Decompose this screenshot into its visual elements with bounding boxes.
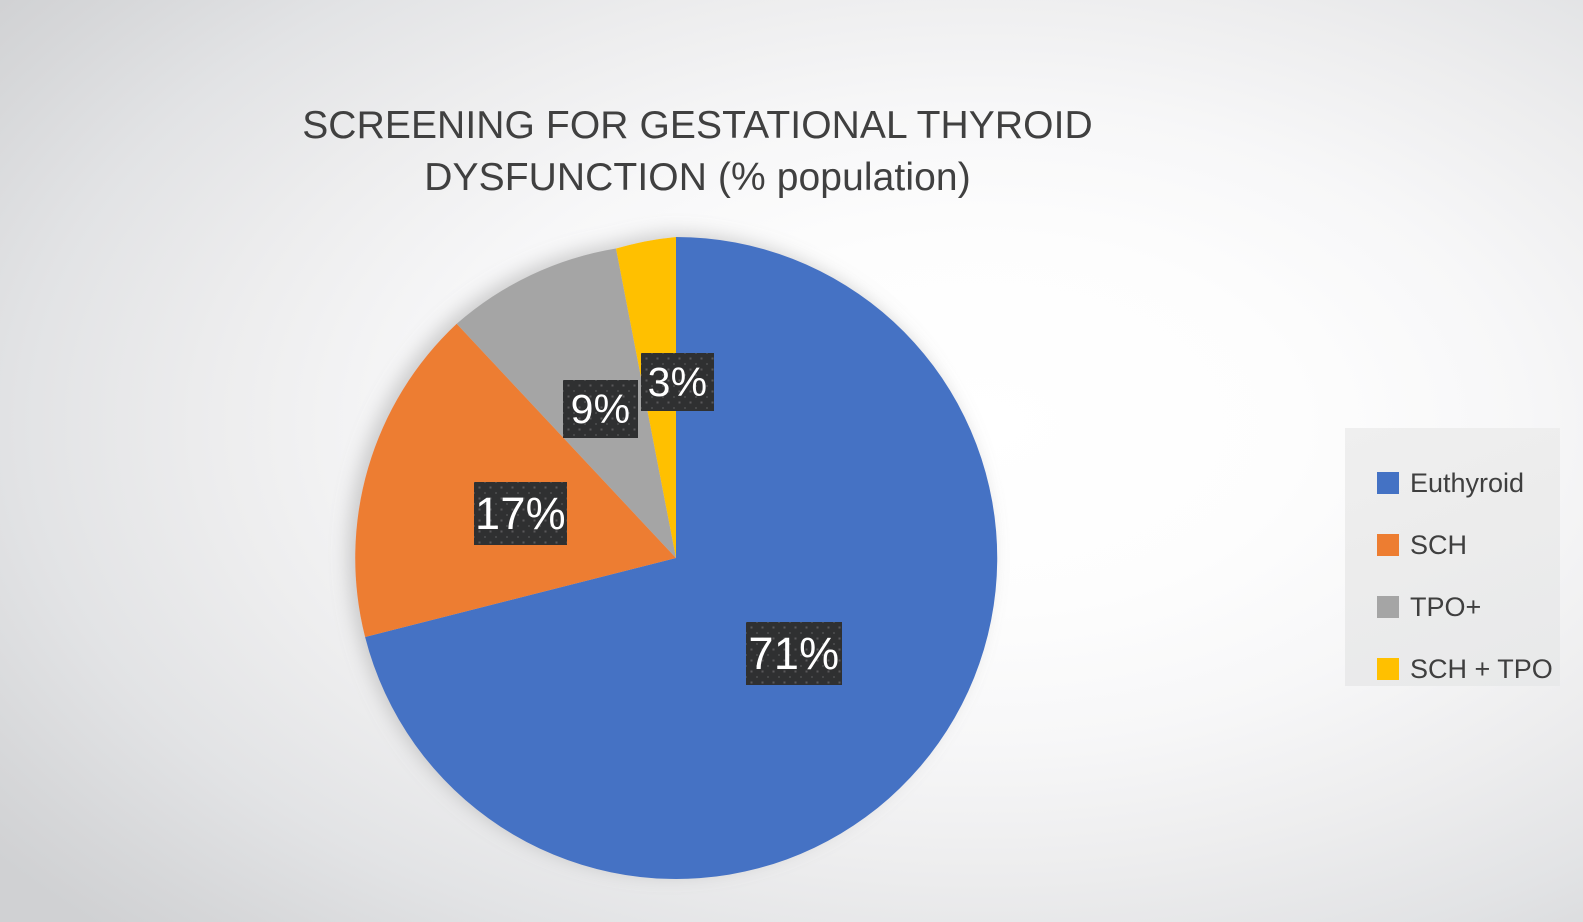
legend-item-sch-tpo[interactable]: SCH + TPO <box>1377 638 1560 700</box>
pie-chart-plot-area[interactable]: 71% 17% 9% 3% <box>0 0 1330 922</box>
legend-label-tpo: TPO+ <box>1410 594 1481 621</box>
data-label-tpo: 9% <box>563 380 638 438</box>
pie-graphic[interactable] <box>355 237 997 879</box>
slide-canvas: SCREENING FOR GESTATIONAL THYROID DYSFUN… <box>0 0 1583 922</box>
data-label-euthyroid: 71% <box>746 622 842 685</box>
legend-item-sch[interactable]: SCH <box>1377 514 1560 576</box>
legend-swatch-sch-tpo <box>1377 658 1399 680</box>
legend-swatch-euthyroid <box>1377 472 1399 494</box>
data-label-sch-tpo: 3% <box>641 353 714 411</box>
legend-item-euthyroid[interactable]: Euthyroid <box>1377 452 1560 514</box>
legend-label-euthyroid: Euthyroid <box>1410 470 1524 497</box>
legend-swatch-tpo <box>1377 596 1399 618</box>
data-label-sch: 17% <box>474 482 567 545</box>
legend-item-tpo[interactable]: TPO+ <box>1377 576 1560 638</box>
legend-label-sch: SCH <box>1410 532 1467 559</box>
legend-label-sch-tpo: SCH + TPO <box>1410 656 1553 683</box>
chart-legend[interactable]: Euthyroid SCH TPO+ SCH + TPO <box>1345 428 1560 686</box>
pie-svg <box>355 237 997 879</box>
legend-swatch-sch <box>1377 534 1399 556</box>
